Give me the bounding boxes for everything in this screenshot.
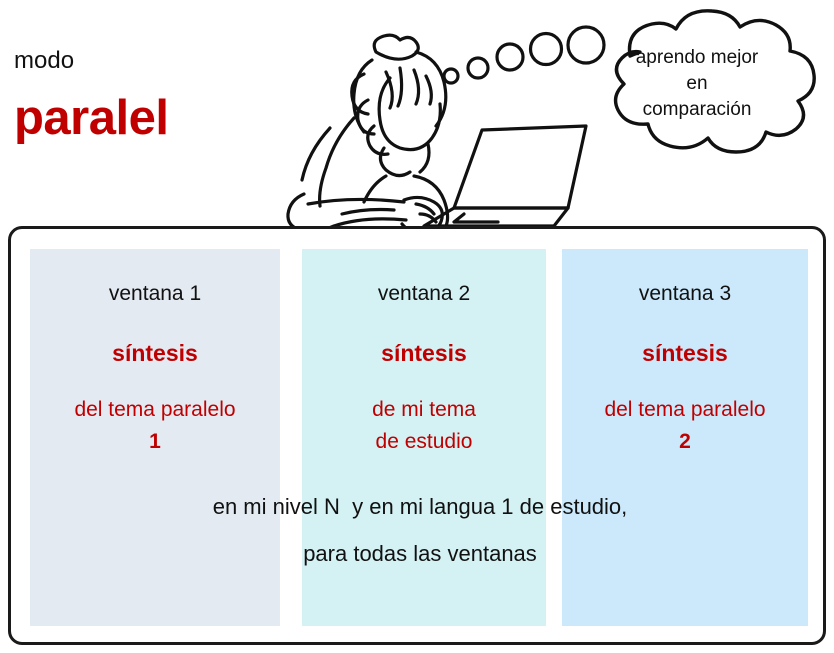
window-column-2-description: de mi tema de estudio [302,394,546,458]
window-column-1-synthesis: síntesis [30,342,280,365]
cloud-text-line-3: comparación [592,97,802,123]
window-column-2-desc-line-2: de estudio [302,426,546,458]
window-column-3-desc-line-2: 2 [562,426,808,458]
thought-cloud-text: aprendo mejor en comparación [592,45,802,123]
window-column-3-desc-line-1: del tema paralelo [562,394,808,426]
windows-panel: ventana 1 síntesis del tema paralelo 1 v… [8,226,826,645]
cloud-text-line-2: en [592,71,802,97]
header-area: modo paralel [0,0,834,226]
window-column-3-title: ventana 3 [562,283,808,304]
window-column-1-description: del tema paralelo 1 [30,394,280,458]
window-column-2[interactable]: ventana 2 síntesis de mi tema de estudio [302,249,546,626]
window-column-1-desc-line-2: 1 [30,426,280,458]
mode-label: modo [14,49,74,73]
mode-value: paralel [14,94,168,143]
window-column-1-desc-line-1: del tema paralelo [30,394,280,426]
window-column-3-description: del tema paralelo 2 [562,394,808,458]
window-column-1[interactable]: ventana 1 síntesis del tema paralelo 1 [30,249,280,626]
window-column-3[interactable]: ventana 3 síntesis del tema paralelo 2 [562,249,808,626]
window-column-2-desc-line-1: de mi tema [302,394,546,426]
window-column-3-synthesis: síntesis [562,342,808,365]
window-column-1-title: ventana 1 [30,283,280,304]
window-column-2-synthesis: síntesis [302,342,546,365]
window-column-2-title: ventana 2 [302,283,546,304]
cloud-text-line-1: aprendo mejor [592,45,802,71]
